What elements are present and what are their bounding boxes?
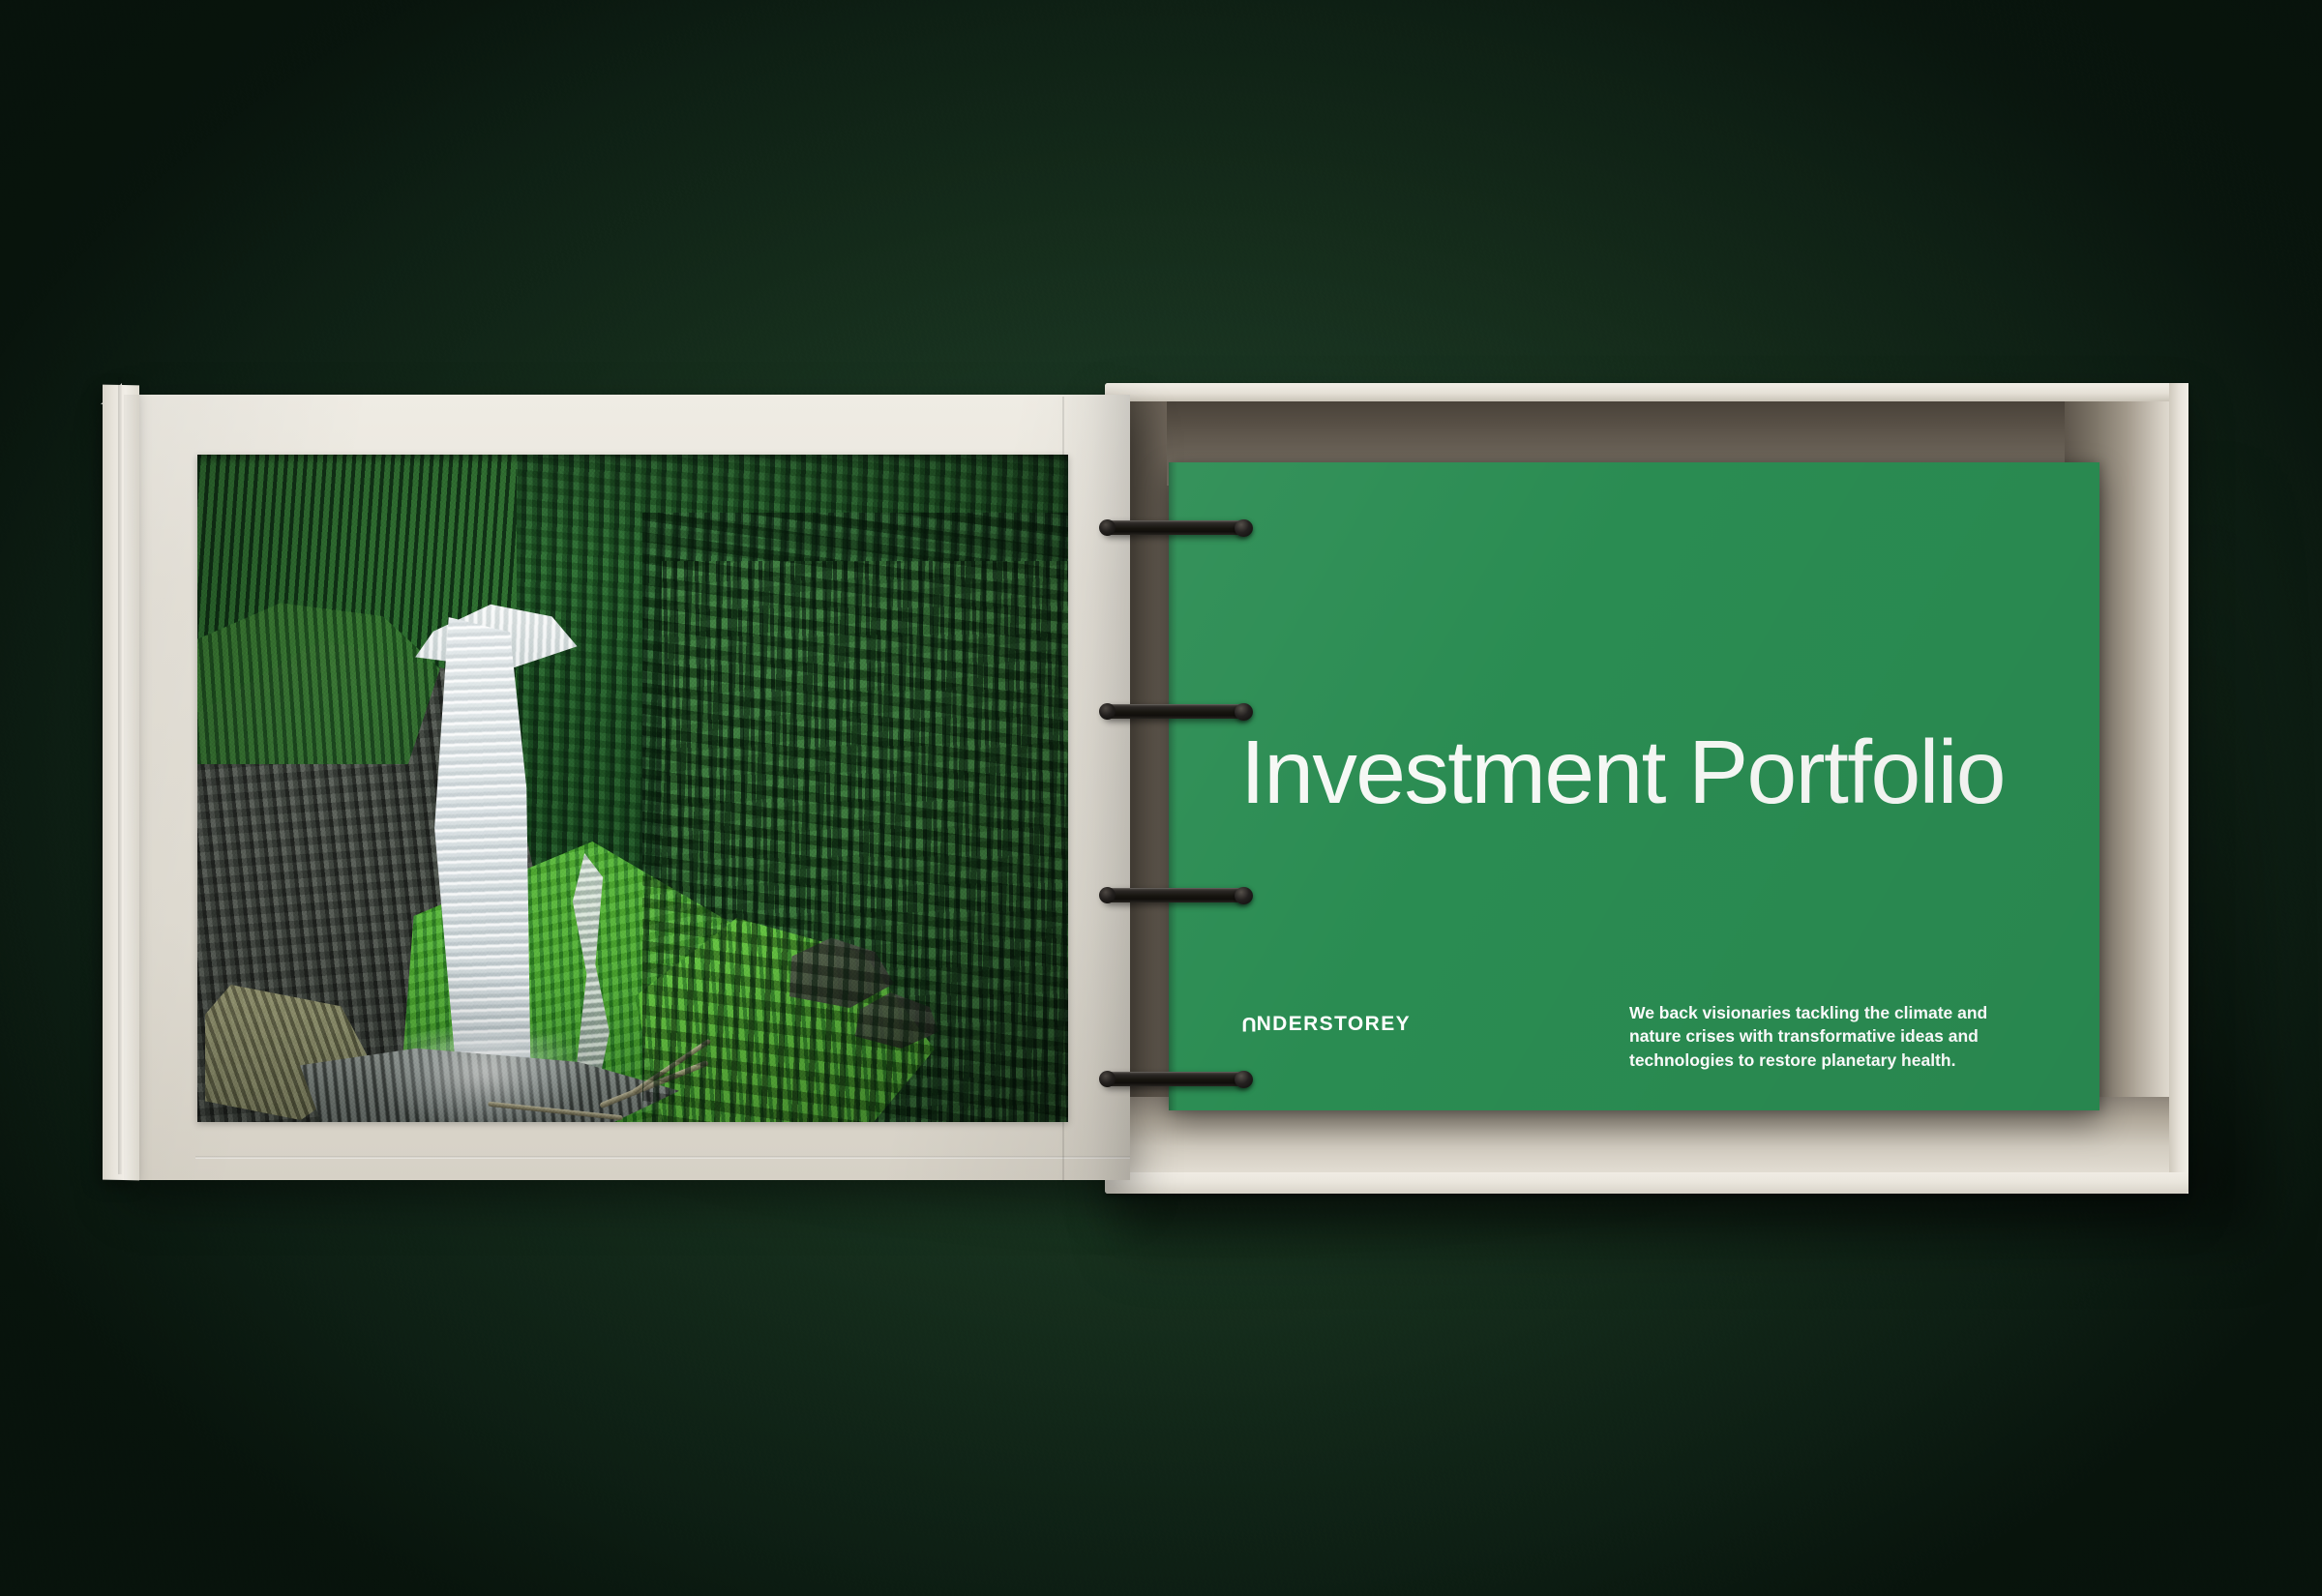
brand-wordmark-text: NDERSTOREY bbox=[1257, 1014, 1411, 1034]
board-hinge bbox=[103, 385, 139, 1181]
green-cover-card: Investment Portfolio UNDERSTOREY We back… bbox=[1169, 462, 2099, 1110]
tray-lip-top bbox=[1105, 383, 2188, 401]
board-hinge-groove bbox=[118, 377, 122, 1174]
board-bottom-groove bbox=[195, 1156, 1130, 1159]
understorey-logo: UNDERSTOREY bbox=[1240, 1001, 1411, 1034]
page-title: Investment Portfolio bbox=[1240, 727, 2005, 817]
mockup-scene: Investment Portfolio UNDERSTOREY We back… bbox=[0, 0, 2322, 1596]
tray-lip-right bbox=[2169, 383, 2188, 1194]
cover-inner-fold-shadow bbox=[1169, 462, 1177, 1110]
waterfall-forest-photograph bbox=[197, 455, 1068, 1122]
cover-tagline: We back visionaries tackling the climate… bbox=[1629, 1001, 2039, 1073]
open-cover-board bbox=[124, 395, 1130, 1180]
tray-lip-bottom bbox=[1105, 1172, 2188, 1194]
photo-vignette bbox=[197, 455, 1068, 1122]
photo-top-shadow bbox=[197, 455, 1068, 464]
cover-footer: UNDERSTOREY We back visionaries tackling… bbox=[1240, 1001, 2039, 1073]
flipped-u-logomark: U bbox=[1240, 1014, 1257, 1034]
